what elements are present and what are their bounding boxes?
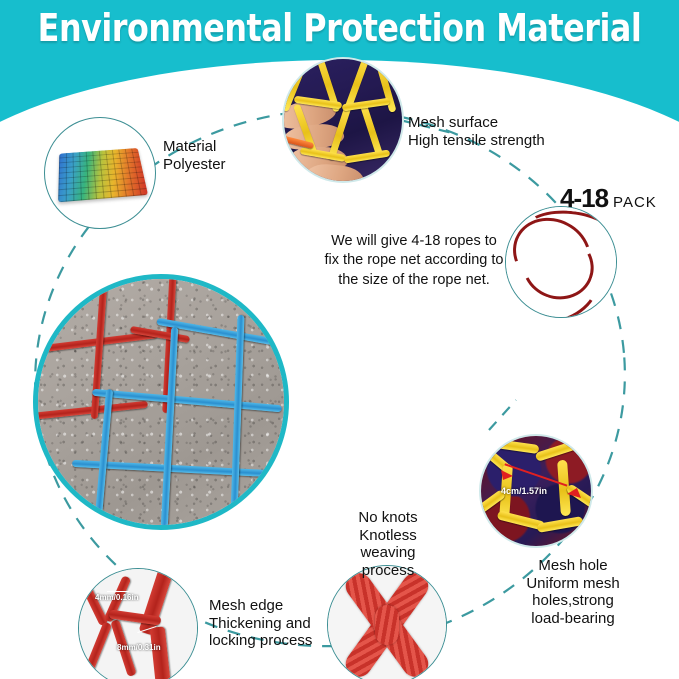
callout-mesh-surface: Mesh surface High tensile strength [408, 114, 545, 149]
material-photo-circle [44, 117, 156, 229]
callout-no-knots-line-2: Knotless weaving [333, 527, 443, 562]
callout-mesh-hole-line-4: load-bearing [513, 610, 633, 628]
mesh-surface-image [284, 59, 402, 181]
callout-material-line-1: Material [163, 138, 226, 156]
rope-pack-photo-circle [505, 206, 617, 318]
callout-no-knots-line-1: No knots [333, 509, 443, 527]
measurement-edge-thin: 4mm/0.16in [95, 593, 139, 602]
main-net-image [38, 279, 284, 525]
callout-mesh-hole-line-3: holes,strong [513, 592, 633, 610]
callout-mesh-surface-line-2: High tensile strength [408, 132, 545, 150]
rope-pack-image [506, 207, 616, 317]
callout-mesh-edge: Mesh edge Thickening and locking process [209, 597, 312, 650]
callout-mesh-hole-line-2: Uniform mesh [513, 575, 633, 593]
page-title: Environmental Protection Material [24, 6, 655, 50]
mesh-surface-photo-circle [282, 57, 404, 183]
callout-no-knots-line-3: process [333, 562, 443, 580]
callout-mesh-hole: Mesh hole Uniform mesh holes,strong load… [513, 557, 633, 628]
callout-no-knots: No knots Knotless weaving process [333, 509, 443, 580]
center-note: We will give 4-18 ropes to fix the rope … [322, 232, 506, 290]
pack-word: PACK [613, 194, 657, 211]
callout-material-line-2: Polyester [163, 156, 226, 174]
knot-image [328, 566, 446, 679]
callout-material: Material Polyester [163, 138, 226, 173]
measurement-edge-thick: 8mm/0.31in [117, 643, 161, 652]
mesh-hole-photo-circle: 4cm/1.57in [479, 434, 593, 548]
infographic-canvas: Environmental Protection Material Materi… [0, 0, 679, 679]
callout-mesh-surface-line-1: Mesh surface [408, 114, 545, 132]
callout-mesh-edge-line-2: Thickening and [209, 615, 312, 633]
mesh-hole-image: 4cm/1.57in [481, 436, 591, 546]
mesh-edge-image: 4mm/0.16in 8mm/0.31in [79, 569, 197, 679]
callout-mesh-hole-line-1: Mesh hole [513, 557, 633, 575]
pack-count: 4-18 [560, 183, 608, 213]
pack-badge: 4-18PACK [560, 183, 657, 214]
callout-mesh-edge-line-1: Mesh edge [209, 597, 312, 615]
main-product-photo-circle [33, 274, 289, 530]
callout-mesh-edge-line-3: locking process [209, 632, 312, 650]
mesh-edge-photo-circle: 4mm/0.16in 8mm/0.31in [78, 568, 198, 679]
polyester-swatch-image [58, 148, 148, 202]
knot-photo-circle [327, 565, 447, 679]
